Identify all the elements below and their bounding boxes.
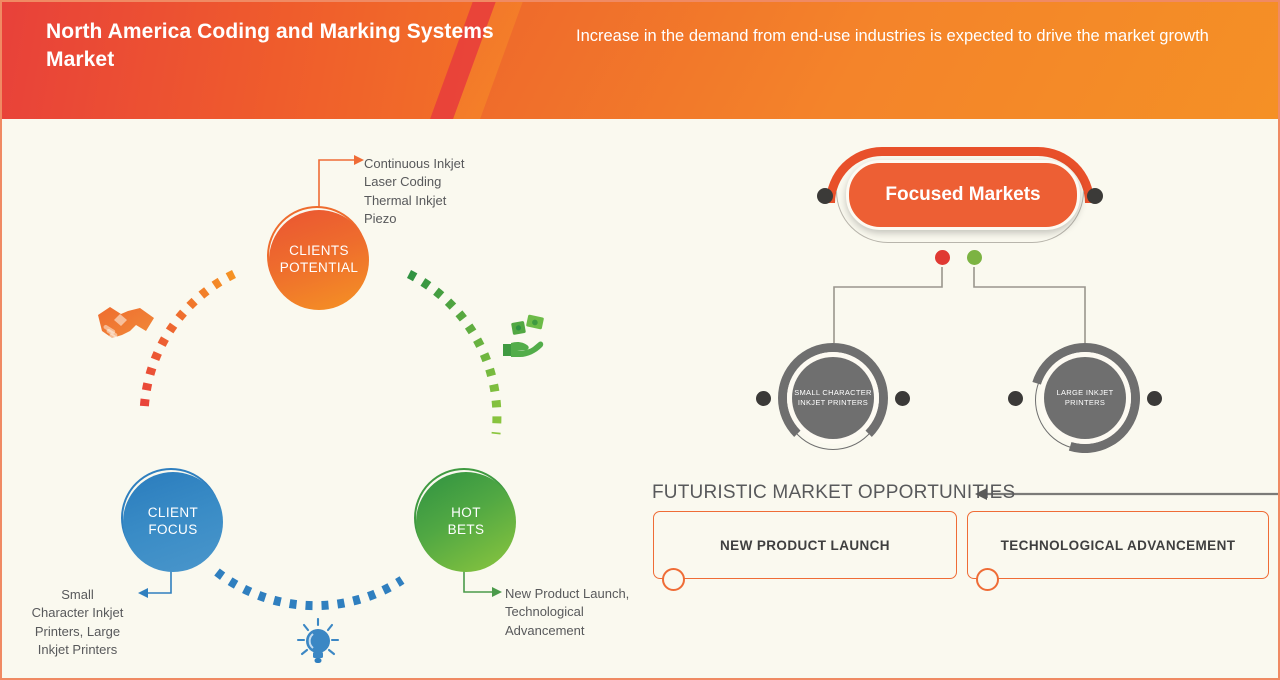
page-title: North America Coding and Marking Systems… bbox=[46, 18, 526, 73]
focus-callout-arrowhead bbox=[138, 588, 148, 598]
market-circle-core: LARGE INKJET PRINTERS bbox=[1044, 357, 1126, 439]
technological-advancement-marker bbox=[976, 568, 999, 591]
green-dot-connector bbox=[974, 267, 1085, 343]
callout-line: Inkjet Printers bbox=[20, 642, 135, 657]
small-character-inkjet-printers-node[interactable]: SMALL CHARACTER INKJET PRINTERS bbox=[778, 343, 888, 453]
clients-callout-connector bbox=[319, 160, 354, 207]
market-circle-label-line2: INKJET PRINTERS bbox=[794, 398, 872, 408]
market-circle-label-line2: PRINTERS bbox=[1057, 398, 1114, 408]
market-circle-left-dot bbox=[1008, 391, 1023, 406]
callout-line: Small bbox=[20, 587, 135, 602]
infographic-page: North America Coding and Marking Systems… bbox=[0, 0, 1280, 680]
callout-line: Piezo bbox=[364, 211, 464, 226]
technological-advancement-box[interactable]: TECHNOLOGICAL ADVANCEMENT bbox=[967, 511, 1269, 579]
callout-line: Character Inkjet bbox=[20, 605, 135, 620]
callout-line: Advancement bbox=[505, 623, 665, 638]
clients-callout-arrowhead bbox=[354, 155, 364, 165]
red-dot-connector bbox=[834, 267, 942, 343]
callout-line: Continuous Inkjet bbox=[364, 156, 464, 171]
focused-markets-button[interactable]: Focused Markets bbox=[846, 160, 1080, 230]
large-inkjet-printers-node[interactable]: LARGE INKJET PRINTERS bbox=[1030, 343, 1140, 453]
focused-markets-group: Focused Markets bbox=[814, 147, 1106, 247]
client-focus-label-line2: FOCUS bbox=[148, 522, 198, 539]
market-circle-core: SMALL CHARACTER INKJET PRINTERS bbox=[792, 357, 874, 439]
client-focus-callout: Small Character Inkjet Printers, Large I… bbox=[20, 587, 135, 657]
clients-potential-label-line1: CLIENTS bbox=[280, 243, 359, 260]
callout-line: Technological bbox=[505, 604, 665, 619]
callout-line: New Product Launch, bbox=[505, 586, 665, 601]
hot-bets-label-line2: BETS bbox=[448, 522, 485, 539]
header-banner: North America Coding and Marking Systems… bbox=[2, 2, 1280, 119]
callout-line: Laser Coding bbox=[364, 174, 464, 189]
header-subtitle: Increase in the demand from end-use indu… bbox=[576, 24, 1236, 49]
clients-potential-label-line2: POTENTIAL bbox=[280, 260, 359, 277]
new-product-launch-marker bbox=[662, 568, 685, 591]
header-diagonal-orange bbox=[468, 2, 1280, 119]
money-in-hand-icon bbox=[499, 314, 547, 360]
red-status-dot bbox=[935, 250, 950, 265]
futuristic-section-title: FUTURISTIC MARKET OPPORTUNITIES bbox=[652, 482, 1015, 504]
green-status-dot bbox=[967, 250, 982, 265]
market-circle-label-line1: LARGE INKJET bbox=[1057, 388, 1114, 398]
market-circle-label-line1: SMALL CHARACTER bbox=[794, 388, 872, 398]
hot-bets-callout: New Product Launch, Technological Advanc… bbox=[505, 586, 665, 638]
bets-callout-arrowhead bbox=[492, 587, 502, 597]
new-product-launch-box[interactable]: NEW PRODUCT LAUNCH bbox=[653, 511, 957, 579]
focused-markets-left-dot bbox=[817, 188, 833, 204]
market-circle-right-dot bbox=[895, 391, 910, 406]
green-dotted-arc bbox=[409, 274, 497, 434]
client-focus-node[interactable]: CLIENT FOCUS bbox=[123, 472, 223, 572]
clients-potential-callout: Continuous Inkjet Laser Coding Thermal I… bbox=[364, 156, 464, 226]
market-circle-right-dot bbox=[1147, 391, 1162, 406]
client-focus-label-line1: CLIENT bbox=[148, 505, 198, 522]
hot-bets-label-line1: HOT bbox=[448, 505, 485, 522]
lightbulb-icon bbox=[295, 618, 341, 666]
market-circle-left-dot bbox=[756, 391, 771, 406]
clients-potential-node[interactable]: CLIENTS POTENTIAL bbox=[269, 210, 369, 310]
hot-bets-node[interactable]: HOT BETS bbox=[416, 472, 516, 572]
callout-line: Printers, Large bbox=[20, 624, 135, 639]
handshake-icon bbox=[94, 299, 158, 349]
blue-dotted-arc bbox=[217, 572, 402, 606]
focused-markets-right-dot bbox=[1087, 188, 1103, 204]
callout-line: Thermal Inkjet bbox=[364, 193, 464, 208]
